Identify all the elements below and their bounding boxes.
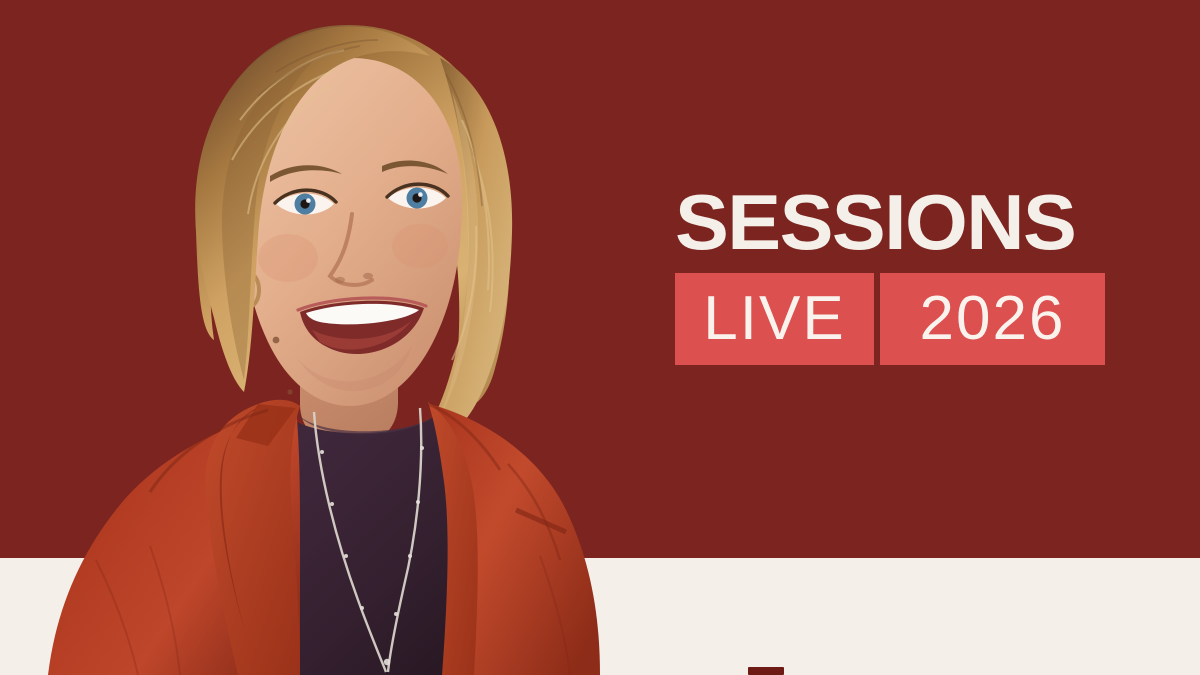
cut-off-logo-top-bar [748,667,784,675]
live-badge-label: LIVE [703,288,845,350]
speaker-portrait [0,0,640,675]
page-title: SESSIONS [675,186,1122,259]
live-badge: LIVE [675,273,874,365]
badge-row: LIVE 2026 [675,273,1105,365]
year-badge-label: 2026 [920,288,1066,350]
year-badge: 2026 [880,273,1105,365]
promo-banner: SESSIONS LIVE 2026 [0,0,1200,675]
title-lockup: SESSIONS LIVE 2026 [675,186,1107,365]
